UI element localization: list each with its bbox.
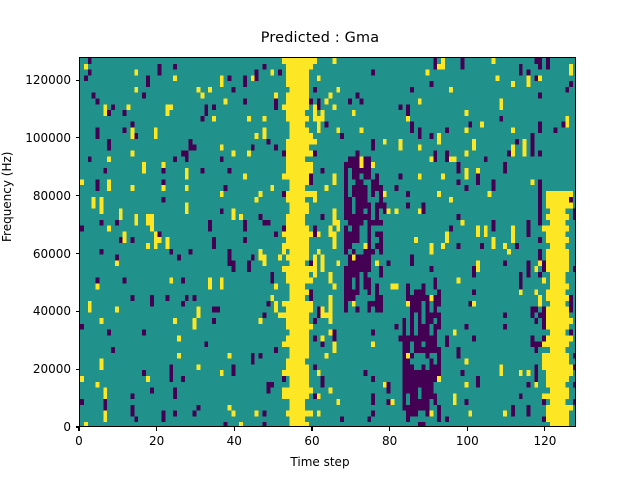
y-tick-mark: [76, 137, 80, 138]
y-tick-label: 120000: [0, 73, 71, 87]
chart-title: Predicted : Gma: [0, 30, 640, 46]
y-tick-label: 100000: [0, 131, 71, 145]
x-tick-label: 100: [456, 434, 479, 448]
x-tick-mark: [544, 427, 545, 431]
x-tick-label: 80: [382, 434, 397, 448]
x-tick-mark: [156, 427, 157, 431]
y-tick-mark: [76, 195, 80, 196]
x-tick-label: 120: [533, 434, 556, 448]
y-tick-label: 20000: [0, 362, 71, 376]
matplotlib-figure: Predicted : Gma Frequency (Hz) 020000400…: [0, 0, 640, 480]
y-tick-mark: [76, 311, 80, 312]
x-tick-mark: [78, 427, 79, 431]
x-tick-label: 40: [227, 434, 242, 448]
x-tick-mark: [467, 427, 468, 431]
heatmap-plot-area[interactable]: [79, 57, 576, 427]
y-tick-label: 60000: [0, 247, 71, 261]
y-tick-mark: [76, 253, 80, 254]
x-tick-label: 60: [304, 434, 319, 448]
x-axis-label: Time step: [0, 455, 640, 469]
x-tick-label: 0: [75, 434, 83, 448]
x-tick-mark: [311, 427, 312, 431]
y-tick-label: 0: [0, 420, 71, 434]
y-tick-label: 40000: [0, 304, 71, 318]
heatmap-image: [80, 58, 576, 427]
y-tick-mark: [76, 369, 80, 370]
x-tick-mark: [389, 427, 390, 431]
y-tick-label: 80000: [0, 189, 71, 203]
x-tick-mark: [234, 427, 235, 431]
x-tick-label: 20: [149, 434, 164, 448]
y-tick-mark: [76, 80, 80, 81]
